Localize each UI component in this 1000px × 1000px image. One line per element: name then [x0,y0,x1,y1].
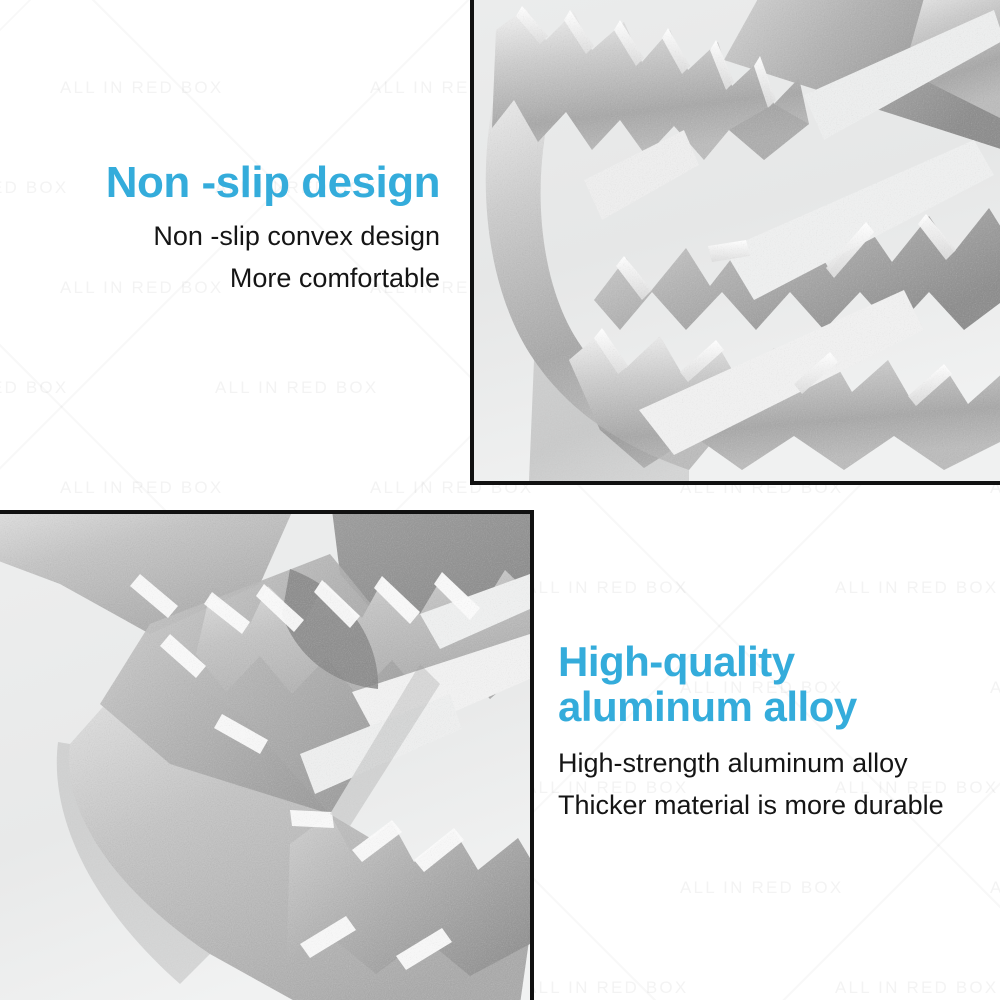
watermark-text: ALL IN RED BOX [835,578,1000,598]
feature-subline: More comfortable [40,258,440,300]
watermark-text: ALL IN RED BOX [525,578,835,598]
feature-subline: High-strength aluminum alloy [558,743,988,785]
watermark-text: ALL IN RED BOX [835,978,1000,998]
feature-subline: Thicker material is more durable [558,785,988,827]
headline-line: aluminum alloy [558,685,988,730]
feature-text-non-slip: Non -slip design Non -slip convex design… [40,160,440,299]
banner-canvas: ALL IN RED BOXALL IN RED BOXALL IN RED B… [0,0,1000,1000]
feature-text-aluminum-alloy: High-quality aluminum alloy High-strengt… [558,640,988,827]
footpeg-angle-closeup-image [0,514,530,1000]
headline-line: Non -slip design [40,160,440,206]
product-photo-bottom-left [0,510,534,1000]
watermark-text: ALL IN RED BOX [525,978,835,998]
product-photo-top-right [470,0,1000,485]
watermark-text: ALL IN RED BOX [680,878,990,898]
feature-subline: Non -slip convex design [40,216,440,258]
feature-headline-non-slip: Non -slip design [40,160,440,206]
headline-line: High-quality [558,640,988,685]
feature-headline-aluminum-alloy: High-quality aluminum alloy [558,640,988,729]
watermark-text: ALL IN RED BOX [60,478,370,498]
watermark-text: ALL IN RED BOX [990,678,1000,698]
watermark-text: ALL IN RED BOX [0,378,215,398]
watermark-text: ALL IN RED BOX [60,78,370,98]
watermark-text: ALL IN RED BOX [990,878,1000,898]
footpeg-teeth-closeup-image [474,0,1000,481]
